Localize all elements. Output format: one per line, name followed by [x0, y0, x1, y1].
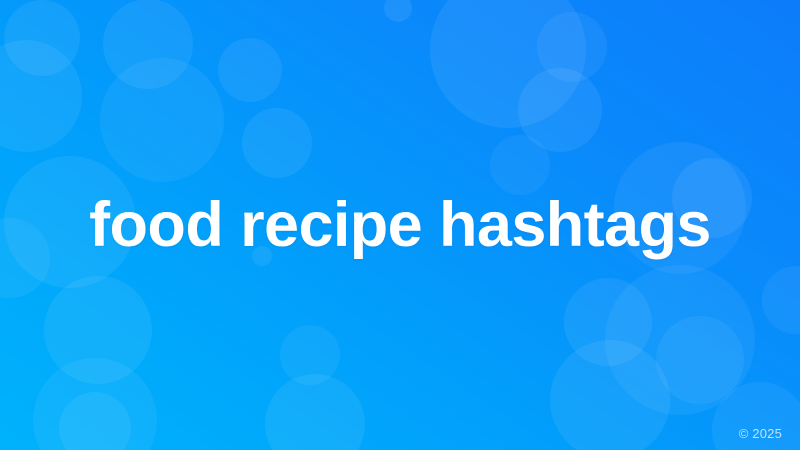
- title-container: food recipe hashtags: [0, 0, 800, 450]
- title-card-banner: food recipe hashtags © 2025: [0, 0, 800, 450]
- copyright-notice: © 2025: [739, 426, 782, 441]
- page-title: food recipe hashtags: [59, 194, 741, 257]
